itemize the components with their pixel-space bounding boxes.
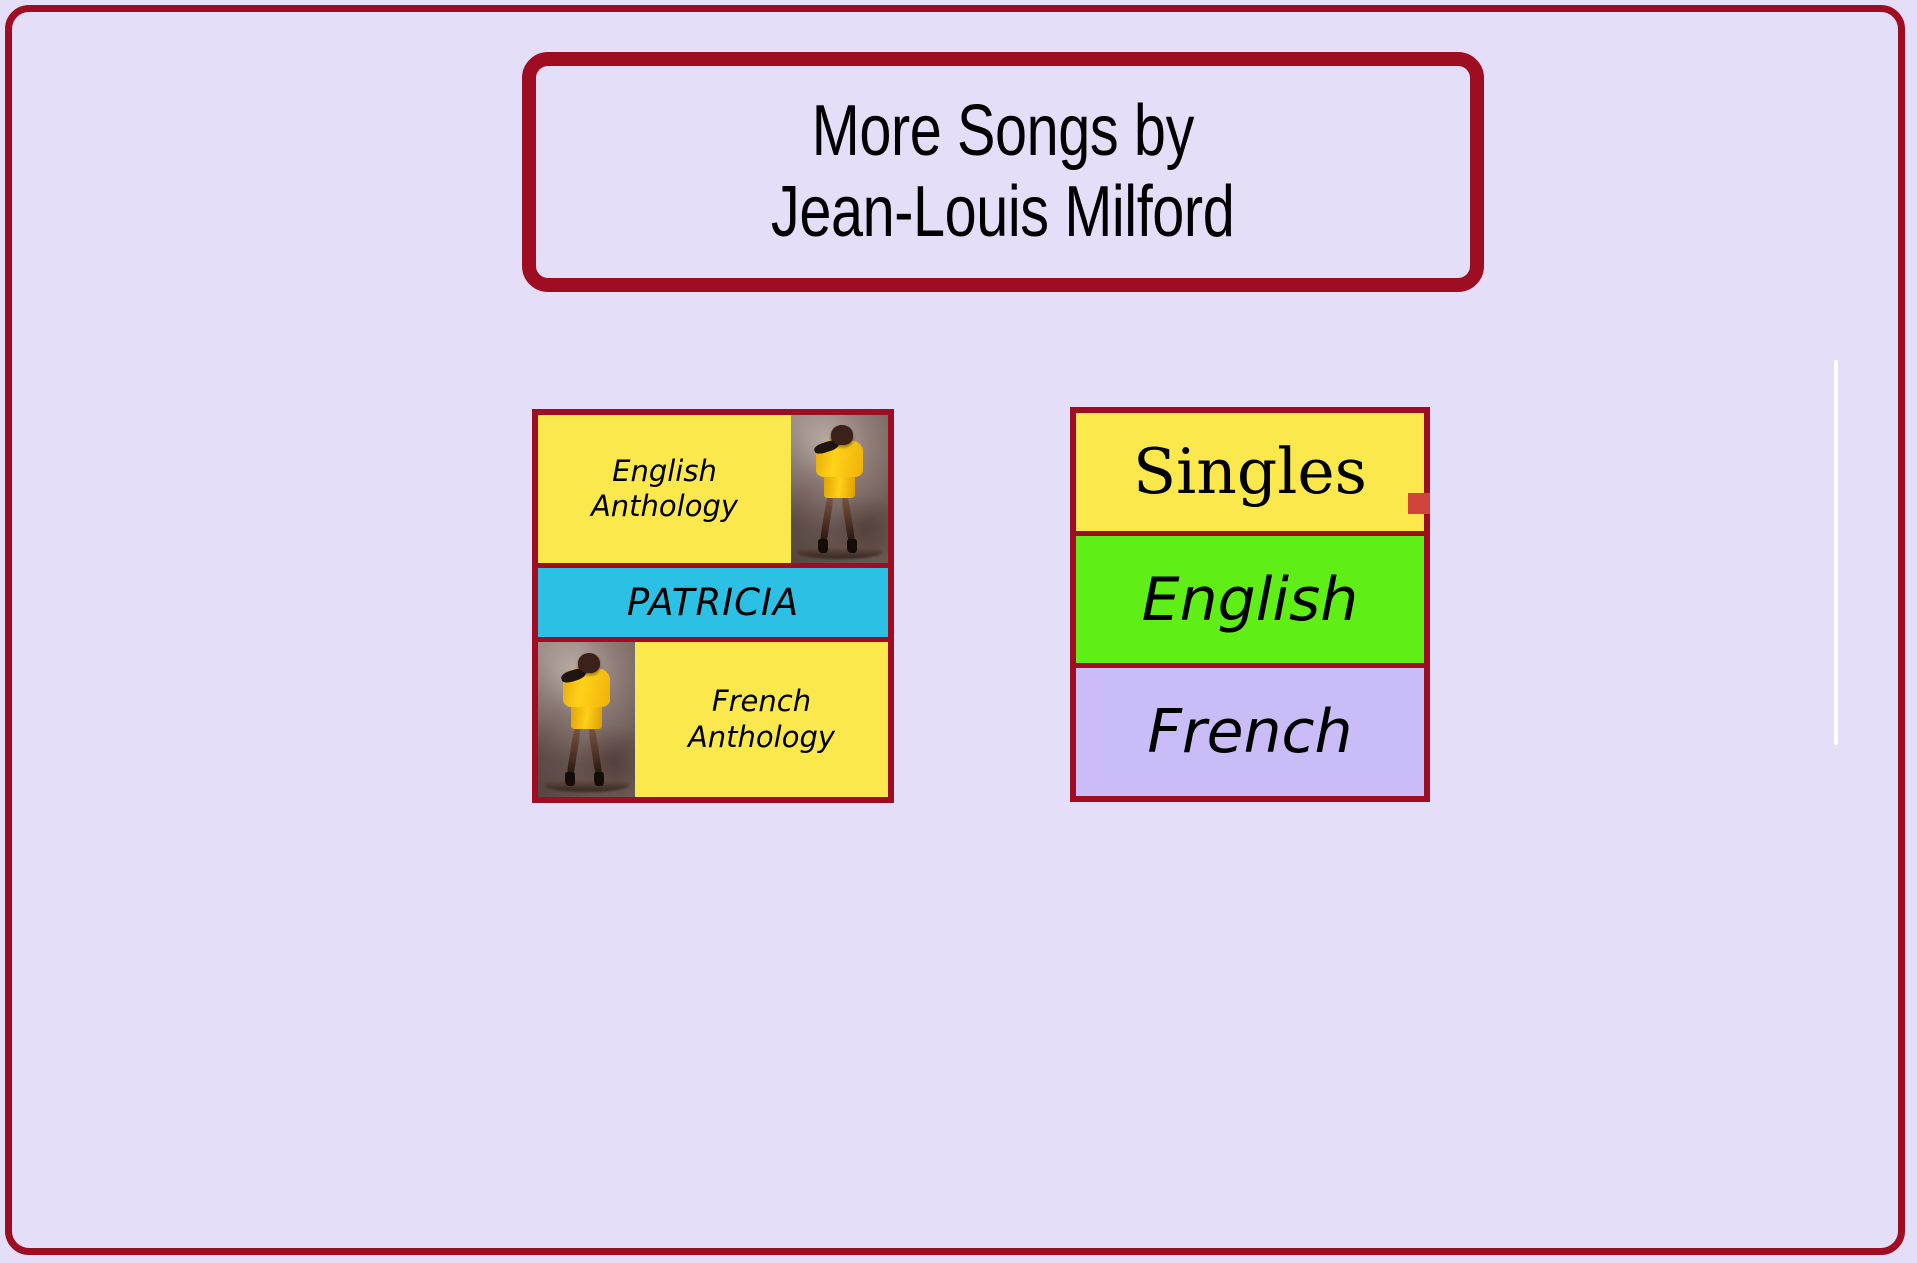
anthology-english-line-1: English (591, 454, 738, 489)
patricia-figure (538, 642, 635, 797)
scrollbar-thumb[interactable] (1834, 360, 1838, 745)
anthology-item-french-label: French Anthology (635, 642, 888, 797)
app-frame: More Songs by Jean-Louis Milford English… (5, 5, 1905, 1255)
page-title-line-2: Jean-Louis Milford (771, 172, 1234, 253)
category-panel: Singles English French (1070, 407, 1430, 802)
page-title-line-1: More Songs by (812, 91, 1194, 172)
anthology-item-french[interactable]: French Anthology (538, 642, 888, 797)
category-item-english[interactable]: English (1076, 536, 1424, 664)
anthology-panel: English Anthology (532, 409, 894, 803)
singles-marker-square[interactable] (1408, 493, 1430, 514)
anthology-french-line-2: Anthology (688, 720, 835, 755)
anthology-item-patricia-label: PATRICIA (538, 568, 888, 637)
anthology-item-english-label: English Anthology (538, 415, 791, 563)
patricia-photo-right (791, 415, 888, 563)
anthology-item-patricia[interactable]: PATRICIA (538, 568, 888, 637)
category-item-singles[interactable]: Singles (1076, 413, 1424, 531)
anthology-english-line-2: Anthology (591, 489, 738, 524)
patricia-figure (791, 415, 888, 563)
category-item-french[interactable]: French (1076, 668, 1424, 796)
patricia-photo-left (538, 642, 635, 797)
anthology-french-line-1: French (688, 684, 835, 719)
anthology-item-english[interactable]: English Anthology (538, 415, 888, 563)
page-title-banner: More Songs by Jean-Louis Milford (522, 52, 1484, 292)
